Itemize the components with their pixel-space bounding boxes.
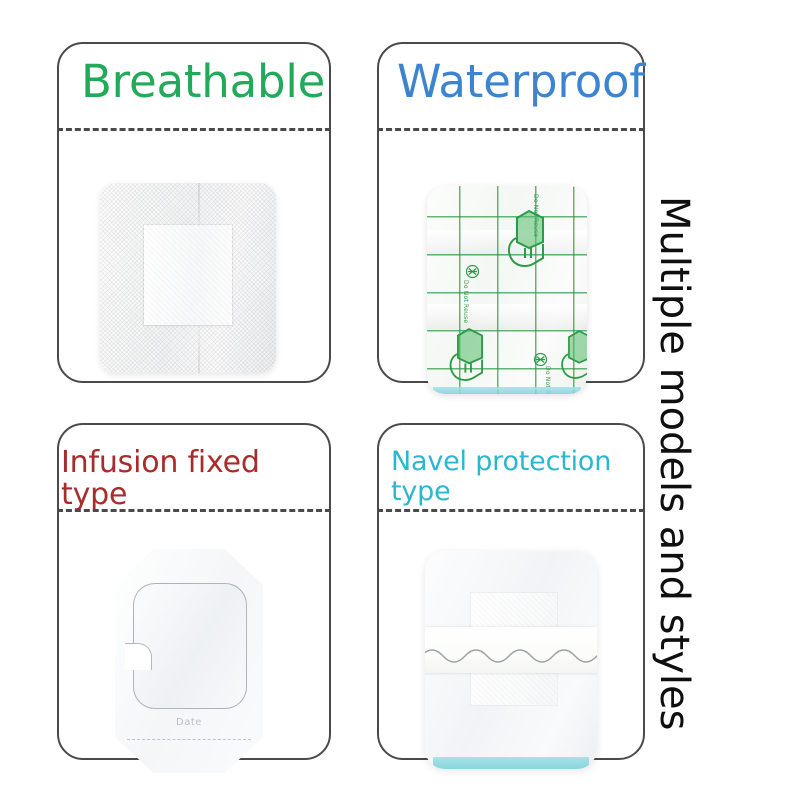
do-not-reuse-icon-1 xyxy=(465,264,480,279)
card-breathable[interactable]: Breathable xyxy=(57,42,331,383)
product-image-transparent-film-dressing: Do Not Reuse Do Not Reuse Do Not Reuse xyxy=(427,186,587,394)
card-title-breathable: Breathable xyxy=(81,58,325,105)
product-stage-breathable xyxy=(59,130,329,381)
hand-applying-film-icon-1 xyxy=(503,208,557,270)
product-image-navel-protection-dressing xyxy=(425,551,597,769)
side-caption-multiple-models-and-styles: Multiple models and styles xyxy=(651,196,697,666)
product-stage-infusion: Date xyxy=(59,511,329,758)
card-waterproof[interactable]: Waterproof xyxy=(377,42,645,383)
dressing-transparent-window xyxy=(133,583,247,709)
card-navel-protection-type[interactable]: Navel protection type xyxy=(377,423,645,760)
film-caption-do-not-reuse-1: Do Not Reuse xyxy=(462,280,469,323)
card-title-waterproof: Waterproof xyxy=(397,58,645,105)
do-not-reuse-icon-2 xyxy=(533,352,548,367)
product-stage-navel xyxy=(379,511,643,758)
dressing-tear-line xyxy=(127,739,251,740)
product-image-iv-catheter-dressing: Date xyxy=(115,549,263,773)
hand-applying-film-icon-2 xyxy=(445,326,495,384)
card-title-infusion-fixed-type: Infusion fixed type xyxy=(61,447,329,510)
product-stage-waterproof: Do Not Reuse Do Not Reuse Do Not Reuse xyxy=(379,130,643,381)
dressing-gauze-pad xyxy=(144,225,232,325)
film-caption-do-not-reuse-2: Do Not Reuse xyxy=(532,194,539,237)
card-infusion-fixed-type[interactable]: Infusion fixed type Date xyxy=(57,423,331,760)
product-image-non-woven-dressing xyxy=(100,183,276,373)
dressing-tubing-notch xyxy=(125,643,152,670)
card-title-navel-protection-type: Navel protection type xyxy=(391,447,611,507)
film-teal-edge xyxy=(433,387,581,394)
navel-liner-wave-line xyxy=(425,643,597,663)
product-feature-board: Breathable Waterproof xyxy=(0,0,800,800)
navel-teal-edge xyxy=(433,757,589,769)
dressing-date-label: Date xyxy=(115,717,263,728)
hand-applying-film-icon-3 xyxy=(557,328,587,382)
